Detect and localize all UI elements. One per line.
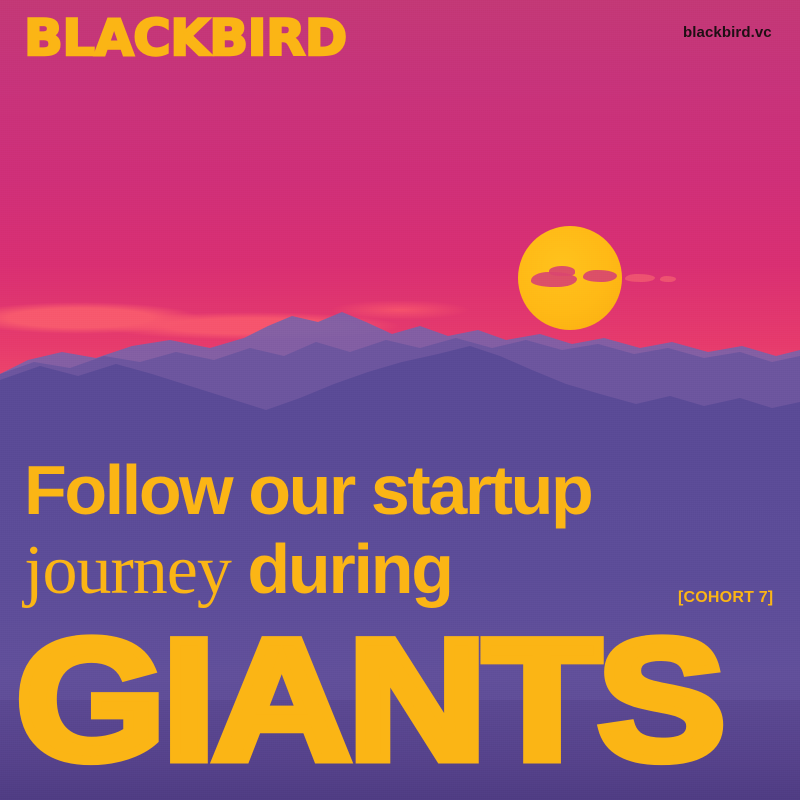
cloud-wisp [660, 276, 676, 282]
headline-line-2: journey during [24, 534, 452, 606]
headline-word-during: during [247, 530, 452, 608]
cloud-wisp [583, 270, 617, 282]
headline-word-journey: journey [24, 532, 247, 609]
cloud-wisp [549, 266, 575, 276]
cloud-wisp [625, 274, 655, 282]
headline-line-1: Follow our startup [24, 455, 591, 525]
website-url[interactable]: blackbird.vc [683, 24, 772, 41]
poster-canvas: BLACKBIRD blackbird.vc Follow our startu… [0, 0, 800, 800]
blackbird-logo[interactable]: BLACKBIRD [24, 13, 347, 63]
headline-giants: GIANTS [16, 614, 722, 786]
